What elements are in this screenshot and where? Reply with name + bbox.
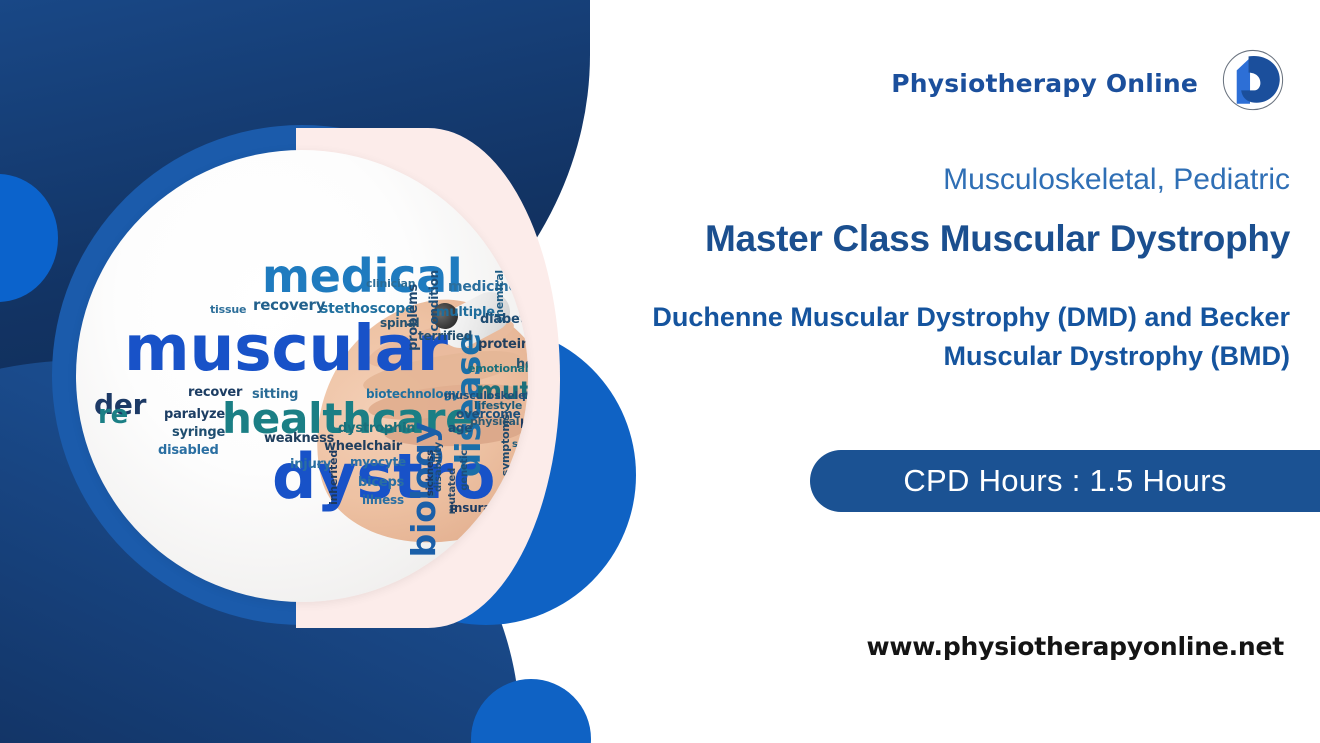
website-url: www.physiotherapyonline.net [644,632,1284,661]
promo-banner: muscularmedicalhealthcaredystrodiseasemu… [0,0,1320,743]
physiotherapy-online-p-logo-icon [1216,46,1290,120]
word-cloud-term: protein [478,338,528,351]
word-cloud-term: musculoskeletal [444,390,528,401]
word-cloud-term: genetic [460,450,470,491]
page-title: Master Class Muscular Dystrophy [620,218,1290,260]
word-cloud-term: health [524,436,528,448]
word-cloud: muscularmedicalhealthcaredystrodiseasemu… [76,150,528,602]
word-cloud-term: injury [290,458,331,471]
word-cloud-term: disability [434,442,444,492]
word-cloud-term: disabled [158,444,219,457]
word-cloud-term: age [448,422,472,434]
brand-name: Physiotherapy Online [891,69,1198,98]
word-cloud-term: insurance [450,502,514,514]
word-cloud-term: condition [428,270,440,331]
word-cloud-photo: muscularmedicalhealthcaredystrodiseasemu… [76,150,528,602]
word-cloud-term: tissue [210,304,246,315]
cpd-hours-badge: CPD Hours : 1.5 Hours [810,450,1320,512]
word-cloud-term: biceps [358,476,404,489]
word-cloud-term: diabetes [480,313,528,326]
word-cloud-term: re [98,402,128,428]
word-cloud-term: symptoms [500,414,511,476]
word-cloud-term: recovery [253,298,325,313]
word-cloud-term: illness [362,494,404,506]
word-cloud-term: dystrophin [338,422,415,435]
course-subtitle: Duchenne Muscular Dystrophy (DMD) and Be… [650,298,1290,376]
artwork-panel: muscularmedicalhealthcaredystrodiseasemu… [0,0,700,743]
brand-lockup: Physiotherapy Online [891,46,1290,120]
word-cloud-term: myocyte [350,456,406,468]
category-eyebrow: Musculoskeletal, Pediatric [650,163,1290,197]
word-cloud-term: terrified [418,330,472,342]
word-cloud-term: pills [522,390,528,401]
word-cloud-term: sitting [252,388,298,401]
content-panel: Physiotherapy Online Musculoskeletal, Pe… [620,0,1320,743]
word-cloud-term: medicine [448,280,518,294]
word-cloud-term: paralyze [164,408,225,421]
word-cloud-term: inherited [328,450,339,505]
word-cloud-term: recover [188,386,242,399]
word-cloud-term: syringe [172,426,225,439]
word-cloud-term: handicapped [520,418,528,430]
word-cloud-term: stethoscope [320,302,414,316]
word-cloud-term: spinal [380,317,419,329]
word-cloud-term: emotional [468,363,528,374]
cpd-hours-label: CPD Hours : 1.5 Hours [903,463,1226,499]
